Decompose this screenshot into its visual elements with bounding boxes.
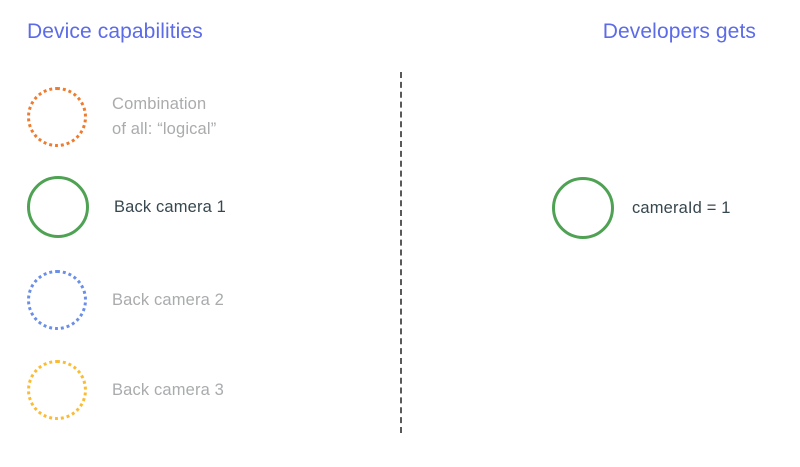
capability-row-back-camera-2: Back camera 2 — [27, 270, 224, 330]
camera-circle-icon — [27, 360, 87, 420]
developers-gets-title: Developers gets — [603, 20, 756, 44]
capability-label: Combination of all: “logical” — [112, 92, 216, 142]
camera-circle-icon — [552, 177, 614, 239]
capability-row-back-camera-3: Back camera 3 — [27, 360, 224, 420]
capability-label: Back camera 3 — [112, 378, 224, 403]
camera-circle-icon — [27, 270, 87, 330]
developer-row-camera-id-1: cameraId = 1 — [552, 177, 731, 239]
developer-label: cameraId = 1 — [632, 196, 731, 221]
diagram-canvas: Device capabilities Developers gets Comb… — [0, 0, 800, 467]
capability-row-back-camera-1: Back camera 1 — [27, 176, 226, 238]
capability-label: Back camera 1 — [114, 195, 226, 220]
camera-circle-icon — [27, 176, 89, 238]
camera-circle-icon — [27, 87, 87, 147]
column-divider — [400, 72, 402, 433]
capability-label: Back camera 2 — [112, 288, 224, 313]
device-capabilities-title: Device capabilities — [27, 20, 203, 44]
capability-row-combination-logical: Combination of all: “logical” — [27, 87, 216, 147]
